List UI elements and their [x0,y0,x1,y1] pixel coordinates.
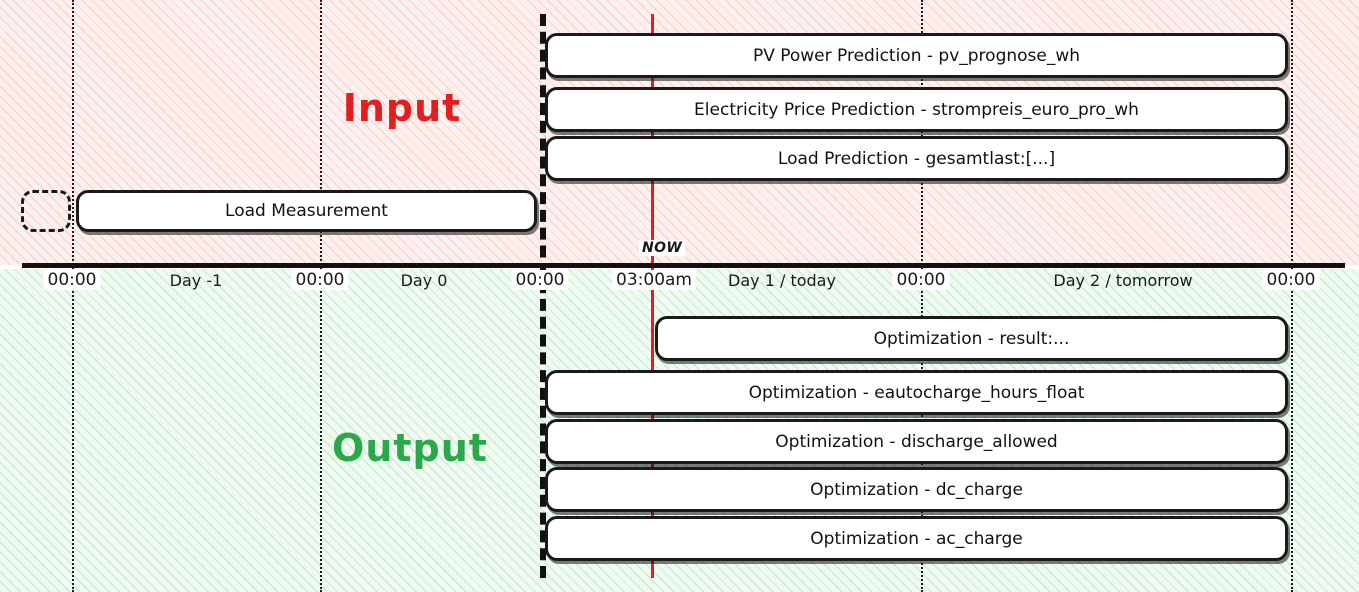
day-gridline [320,0,322,592]
output-box[interactable]: Optimization - result:... [655,316,1288,361]
axis-tick-label: 00:00 [292,270,349,290]
input-box[interactable]: PV Power Prediction - pv_prognose_wh [545,33,1288,78]
output-box[interactable]: Optimization - discharge_allowed [545,419,1288,464]
input-box[interactable]: Load Measurement [76,190,537,232]
box-label: Optimization - eautocharge_hours_float [749,383,1085,403]
input-box[interactable]: Load Prediction - gesamtlast:[...] [545,136,1288,181]
axis-day-label: Day 1 / today [728,271,836,290]
axis-day-label: Day 2 / tomorrow [1053,271,1192,290]
box-label: Optimization - result:... [874,329,1070,349]
input-section-caption: Input [343,86,462,130]
axis-tick-label: 03:00am [612,270,696,290]
box-label: Optimization - ac_charge [810,529,1022,549]
timeline-diagram: NOW 00:0000:0000:0003:00am00:0000:00Day … [0,0,1359,592]
axis-tick-label: 00:00 [512,270,569,290]
axis-tick-label: 00:00 [893,270,950,290]
box-label: Optimization - discharge_allowed [775,432,1057,452]
now-label: NOW [639,240,685,256]
box-label: PV Power Prediction - pv_prognose_wh [753,46,1080,66]
box-label: Load Measurement [225,201,388,221]
box-label: Load Prediction - gesamtlast:[...] [778,149,1055,169]
day-gridline [1291,0,1293,592]
output-box[interactable]: Optimization - ac_charge [545,516,1288,561]
day-gridline [72,0,74,592]
axis-tick-label: 00:00 [44,270,101,290]
box-label: Electricity Price Prediction - stromprei… [694,100,1139,120]
axis-day-label: Day 0 [401,271,448,290]
axis-day-label: Day -1 [170,271,223,290]
axis-tick-label: 00:00 [1263,270,1320,290]
input-box[interactable]: Electricity Price Prediction - stromprei… [545,87,1288,132]
output-box[interactable]: Optimization - dc_charge [545,467,1288,512]
output-box[interactable]: Optimization - eautocharge_hours_float [545,370,1288,415]
time-axis-line [22,263,1345,268]
output-section-caption: Output [332,426,488,470]
box-label: Optimization - dc_charge [810,480,1023,500]
load-measurement-history-placeholder-box[interactable] [21,190,71,232]
